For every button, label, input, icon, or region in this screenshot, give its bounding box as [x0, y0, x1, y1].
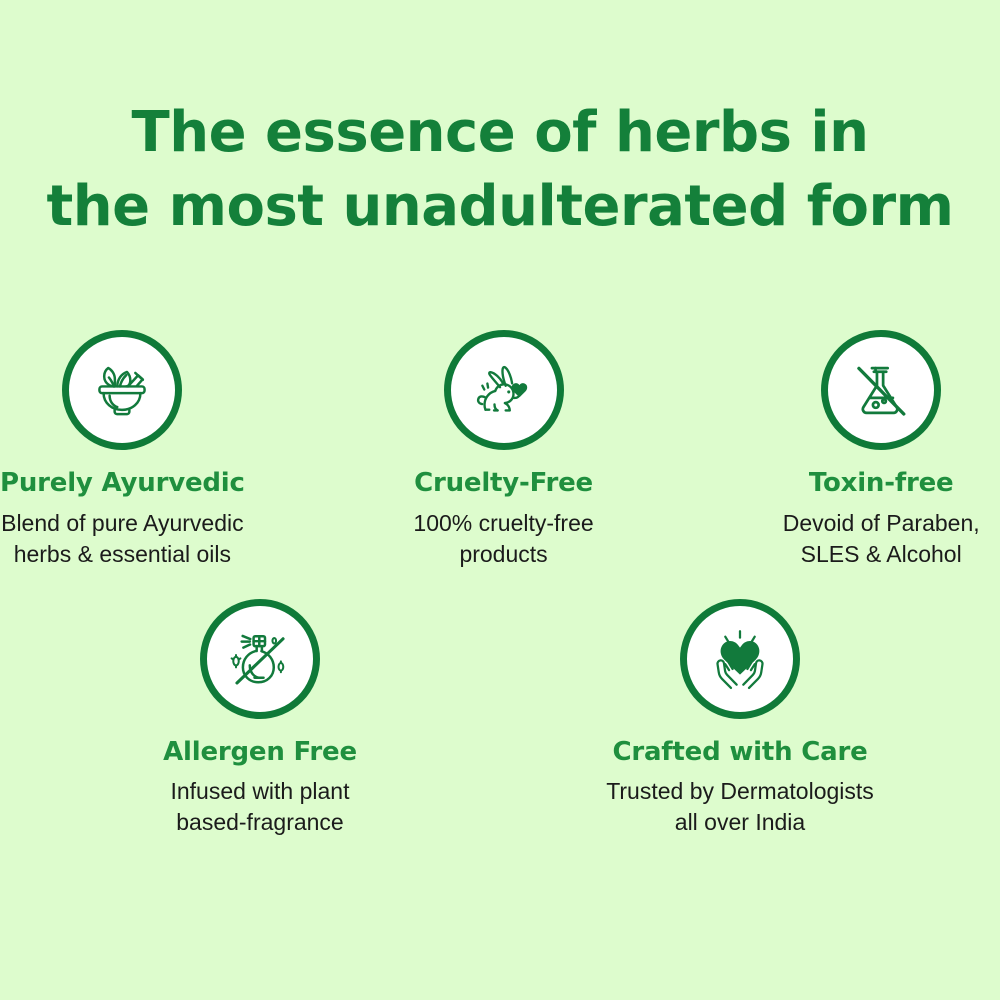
feature-description-line-1: Blend of pure Ayurvedic: [1, 508, 244, 539]
feature-description: 100% cruelty-free products: [413, 508, 593, 570]
feature-description-line-2: products: [413, 539, 593, 570]
feature-description: Blend of pure Ayurvedic herbs & essentia…: [1, 508, 244, 570]
feature-purely-ayurvedic: Purely Ayurvedic Blend of pure Ayurvedic…: [0, 330, 245, 570]
feature-title: Toxin-free: [809, 469, 954, 498]
feature-cruelty-free: Cruelty-Free 100% cruelty-free products: [385, 330, 623, 570]
feature-icon-badge: [200, 599, 320, 719]
feature-description-line-1: Devoid of Paraben,: [783, 508, 980, 539]
feature-description-line-1: Trusted by Dermatologists: [606, 776, 874, 807]
page-title-line-1: The essence of herbs in: [0, 96, 1000, 170]
page-title: The essence of herbs in the most unadult…: [0, 96, 1000, 244]
feature-row-bottom: Allergen Free Infused with plant based-f…: [0, 599, 1000, 839]
feature-toxin-free: Toxin-free Devoid of Paraben, SLES & Alc…: [762, 330, 1000, 570]
promo-feature-page: { "colors": { "background": "#ddfccd", "…: [0, 0, 1000, 1000]
no-chemical-flask-icon: [843, 352, 919, 428]
feature-description-line-1: 100% cruelty-free: [413, 508, 593, 539]
no-fragrance-bottle-icon: [222, 621, 298, 697]
feature-title: Allergen Free: [163, 738, 357, 767]
feature-description: Infused with plant based-fragrance: [170, 776, 349, 838]
feature-description-line-2: herbs & essential oils: [1, 539, 244, 570]
feature-grid: Purely Ayurvedic Blend of pure Ayurvedic…: [0, 330, 1000, 838]
hands-holding-heart-icon: [702, 621, 778, 697]
feature-crafted-with-care: Crafted with Care Trusted by Dermatologi…: [595, 599, 885, 839]
feature-title: Cruelty-Free: [414, 469, 593, 498]
feature-icon-badge: [680, 599, 800, 719]
feature-icon-badge: [821, 330, 941, 450]
feature-icon-badge: [444, 330, 564, 450]
feature-icon-badge: [62, 330, 182, 450]
page-title-line-2: the most unadulterated form: [0, 170, 1000, 244]
feature-title: Purely Ayurvedic: [0, 469, 245, 498]
feature-description: Devoid of Paraben, SLES & Alcohol: [783, 508, 980, 570]
feature-description-line-2: all over India: [606, 807, 874, 838]
feature-description-line-1: Infused with plant: [170, 776, 349, 807]
feature-title: Crafted with Care: [612, 738, 867, 767]
feature-description: Trusted by Dermatologists all over India: [606, 776, 874, 838]
rabbit-heart-icon: [466, 352, 542, 428]
feature-description-line-2: SLES & Alcohol: [783, 539, 980, 570]
feature-description-line-2: based-fragrance: [170, 807, 349, 838]
feature-row-top: Purely Ayurvedic Blend of pure Ayurvedic…: [0, 330, 1000, 570]
mortar-and-pestle-icon: [84, 352, 160, 428]
feature-allergen-free: Allergen Free Infused with plant based-f…: [115, 599, 405, 839]
